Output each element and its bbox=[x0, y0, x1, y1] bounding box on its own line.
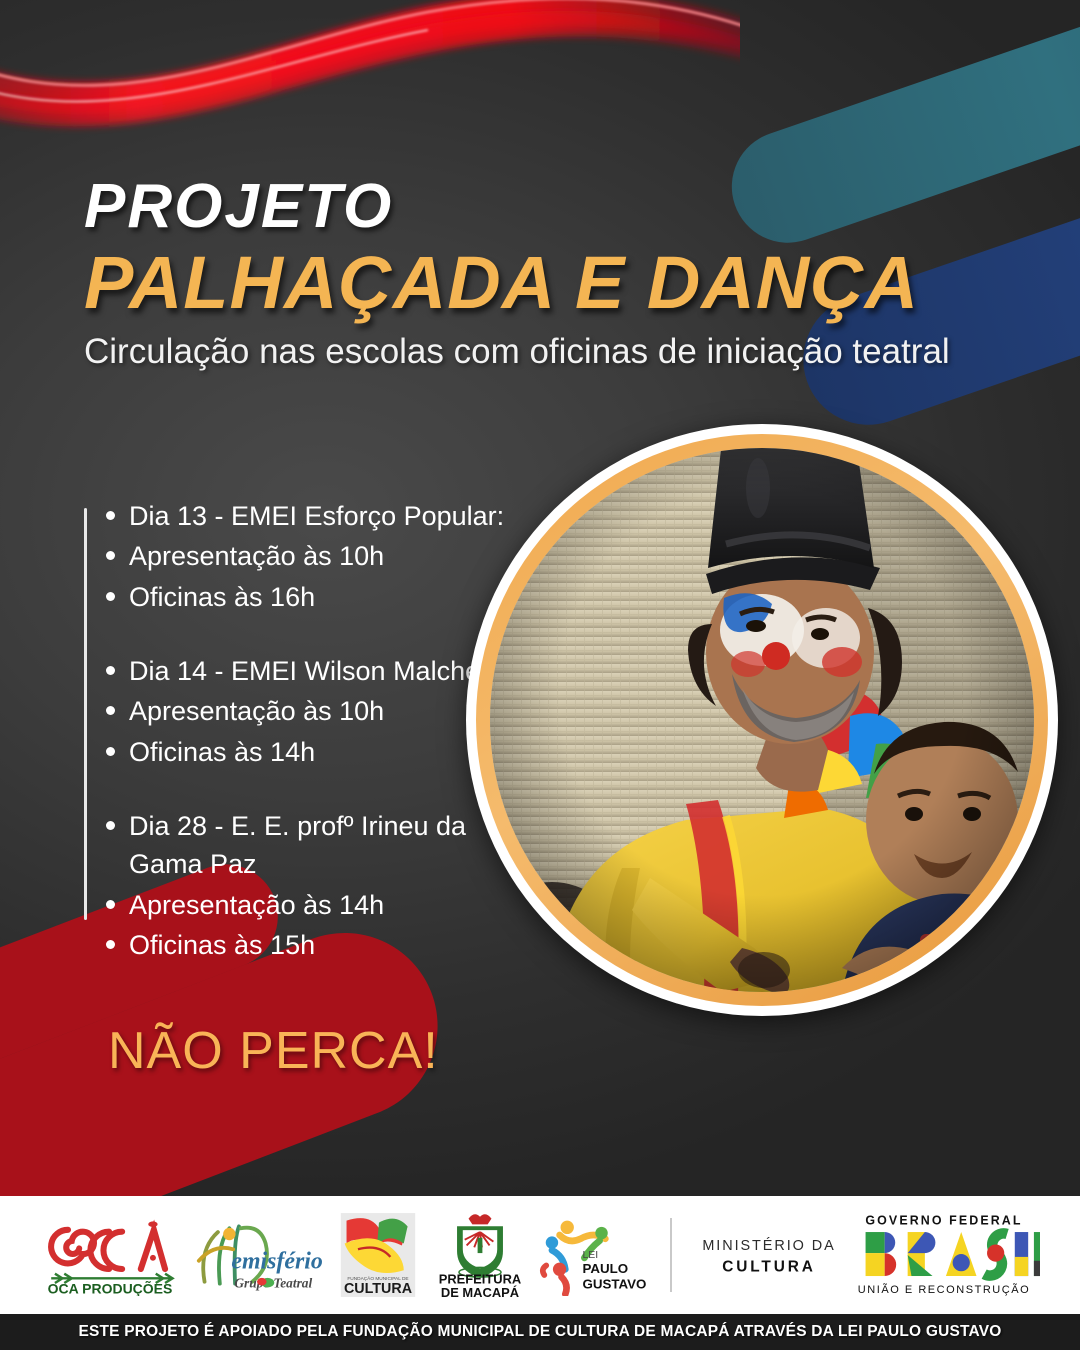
logo-cultura-macapa: FUNDAÇÃO MUNICIPAL DE CULTURA bbox=[332, 1211, 424, 1299]
logo-prefeitura-line2: DE MACAPÁ bbox=[441, 1285, 519, 1299]
logo-divider bbox=[670, 1218, 672, 1292]
logo-gf-top: GOVERNO FEDERAL bbox=[865, 1213, 1022, 1227]
logo-cultura-name: CULTURA bbox=[344, 1281, 412, 1297]
schedule-list: Dia 13 - EMEI Esforço Popular: Apresenta… bbox=[84, 497, 514, 966]
schedule-item-text: Apresentação às 10h bbox=[129, 692, 514, 730]
page-subtitle: Circulação nas escolas com oficinas de i… bbox=[84, 332, 1004, 372]
logo-lpg-line3: GUSTAVO bbox=[582, 1276, 646, 1291]
photo-ring-gold bbox=[476, 434, 1048, 1006]
bullet-icon bbox=[106, 706, 115, 715]
list-item: Dia 13 - EMEI Esforço Popular: bbox=[84, 497, 514, 535]
list-item: Oficinas às 16h bbox=[84, 578, 514, 616]
footer-bar: ESTE PROJETO É APOIADO PELA FUNDAÇÃO MUN… bbox=[0, 1314, 1080, 1350]
list-item: Oficinas às 14h bbox=[84, 733, 514, 771]
footer-text: ESTE PROJETO É APOIADO PELA FUNDAÇÃO MUN… bbox=[78, 1323, 1001, 1341]
logo-hemisferio-name: emisfério bbox=[231, 1248, 323, 1274]
list-item: Dia 28 - E. E. profº Irineu da Gama Paz bbox=[84, 807, 514, 884]
logo-lei-paulo-gustavo: LEI PAULO GUSTAVO bbox=[536, 1214, 648, 1296]
logo-lpg-line2: PAULO bbox=[582, 1261, 628, 1276]
schedule-group: Dia 14 - EMEI Wilson Malcher: Apresentaç… bbox=[84, 652, 514, 771]
schedule-group: Dia 13 - EMEI Esforço Popular: Apresenta… bbox=[84, 497, 514, 616]
logo-lpg-line1: LEI bbox=[582, 1250, 598, 1261]
bullet-icon bbox=[106, 821, 115, 830]
schedule-item-text: Oficinas às 14h bbox=[129, 733, 514, 771]
logo-governo-federal-brasil: GOVERNO FEDERAL bbox=[844, 1211, 1044, 1299]
clown-photo bbox=[490, 448, 1034, 992]
logo-gf-bottom: UNIÃO E RECONSTRUÇÃO bbox=[858, 1283, 1030, 1296]
logo-hemisferio: emisfério Grupo Teatral bbox=[184, 1213, 332, 1297]
bullet-icon bbox=[106, 747, 115, 756]
logo-oca-tagline: OCA PRODUÇÕES bbox=[48, 1279, 173, 1296]
red-swoosh-decoration bbox=[0, 0, 740, 152]
list-item: Apresentação às 14h bbox=[84, 886, 514, 924]
logo-minc-line2: CULTURA bbox=[722, 1258, 815, 1275]
list-item: Apresentação às 10h bbox=[84, 537, 514, 575]
schedule-item-text: Dia 14 - EMEI Wilson Malcher: bbox=[129, 652, 514, 690]
eyebrow-projeto: PROJETO bbox=[84, 176, 1004, 238]
logo-prefeitura-macapa: PREFEITURA DE MACAPÁ bbox=[424, 1211, 536, 1299]
bullet-icon bbox=[106, 666, 115, 675]
callout-nao-perca: NÃO PERCA! bbox=[108, 1021, 439, 1081]
logo-ministerio-da-cultura: MINISTÉRIO DA CULTURA bbox=[694, 1229, 844, 1281]
bullet-icon bbox=[106, 940, 115, 949]
bullet-icon bbox=[106, 592, 115, 601]
vertical-rule bbox=[84, 508, 87, 920]
logo-minc-line1: MINISTÉRIO DA bbox=[702, 1237, 835, 1254]
schedule-item-text: Dia 28 - E. E. profº Irineu da Gama Paz bbox=[129, 807, 514, 884]
schedule-item-text: Dia 13 - EMEI Esforço Popular: bbox=[129, 497, 514, 535]
logo-oca-producoes: OCA PRODUÇÕES bbox=[36, 1214, 184, 1296]
list-item: Apresentação às 10h bbox=[84, 692, 514, 730]
bullet-icon bbox=[106, 551, 115, 560]
sponsor-logo-band: OCA PRODUÇÕES emisfério Grupo Teatral bbox=[0, 1196, 1080, 1314]
list-item: Oficinas às 15h bbox=[84, 926, 514, 964]
list-item: Dia 14 - EMEI Wilson Malcher: bbox=[84, 652, 514, 690]
bullet-icon bbox=[106, 511, 115, 520]
schedule-item-text: Apresentação às 10h bbox=[129, 537, 514, 575]
bullet-icon bbox=[106, 900, 115, 909]
poster-root: PROJETO PALHAÇADA E DANÇA Circulação nas… bbox=[0, 0, 1080, 1350]
schedule-group: Dia 28 - E. E. profº Irineu da Gama Paz … bbox=[84, 807, 514, 964]
page-title: PALHAÇADA E DANÇA bbox=[84, 244, 1004, 322]
header-block: PROJETO PALHAÇADA E DANÇA Circulação nas… bbox=[84, 176, 1004, 373]
photo-ring-outer bbox=[466, 424, 1058, 1016]
schedule-item-text: Oficinas às 16h bbox=[129, 578, 514, 616]
schedule-item-text: Oficinas às 15h bbox=[129, 926, 514, 964]
schedule-item-text: Apresentação às 14h bbox=[129, 886, 514, 924]
